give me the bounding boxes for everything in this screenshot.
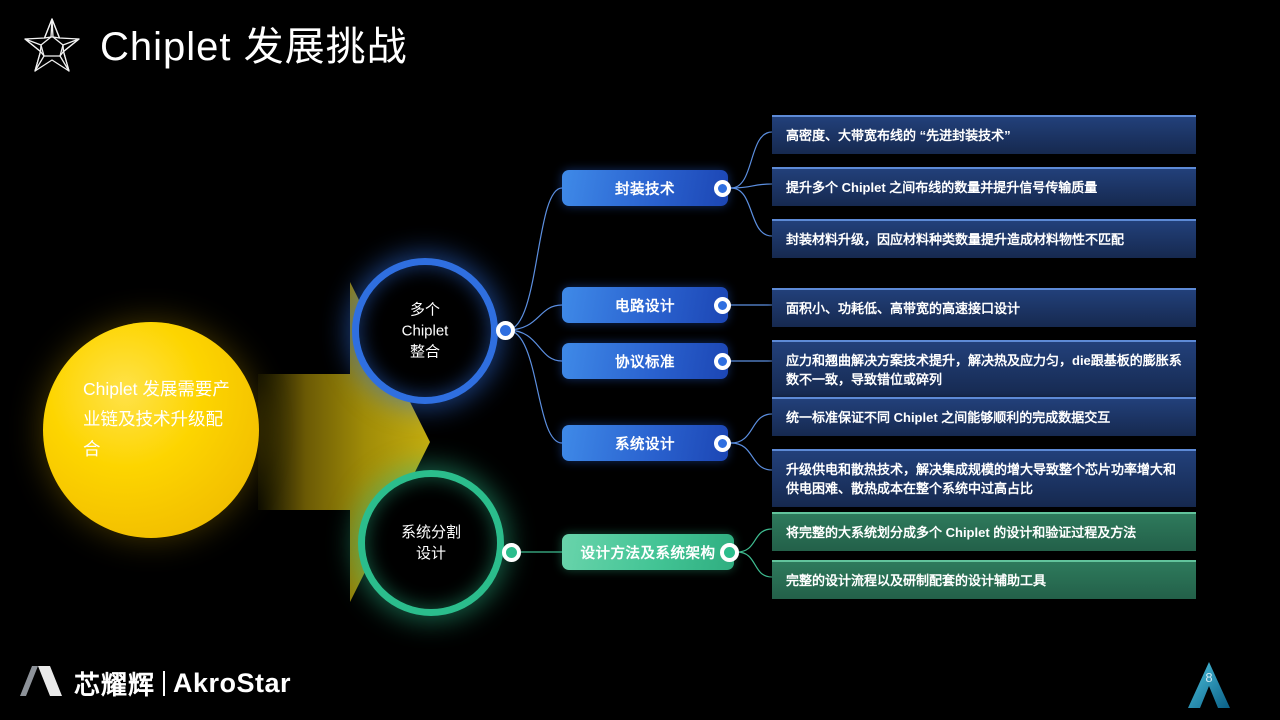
- detail-box-text: 升级供电和散热技术，解决集成规模的增大导致整个芯片功率增大和供电困难、散热成本在…: [786, 462, 1176, 496]
- brand-name-cn: 芯耀辉: [74, 665, 155, 702]
- category-pill-label: 系统设计: [615, 433, 675, 454]
- root-node-label: Chiplet 发展需要产业链及技术升级配合: [83, 374, 233, 464]
- star-outline-icon: [18, 14, 86, 80]
- slide-header: Chiplet 发展挑战: [0, 0, 1280, 95]
- brand-logo: 芯耀辉 AkroStar: [20, 664, 291, 702]
- category-pill-label: 电路设计: [615, 295, 675, 316]
- detail-box-text: 完整的设计流程以及研制配套的设计辅助工具: [786, 573, 1046, 588]
- detail-box[interactable]: 统一标准保证不同 Chiplet 之间能够顺利的完成数据交互: [772, 397, 1196, 436]
- branch-node-label: 系统分割设计: [365, 522, 497, 564]
- detail-box[interactable]: 面积小、功耗低、高带宽的高速接口设计: [772, 288, 1196, 327]
- page-badge-shape: [1186, 660, 1232, 710]
- category-pill-circuit-design[interactable]: 电路设计: [562, 287, 728, 323]
- detail-box-text: 面积小、功耗低、高带宽的高速接口设计: [786, 301, 1020, 316]
- category-pill-label: 协议标准: [615, 351, 675, 372]
- category-pill-label: 设计方法及系统架构: [581, 542, 716, 563]
- detail-box-text: 统一标准保证不同 Chiplet 之间能够顺利的完成数据交互: [786, 410, 1110, 425]
- category-pill-protocol-standard[interactable]: 协议标准: [562, 343, 728, 379]
- detail-box-text: 提升多个 Chiplet 之间布线的数量并提升信号传输质量: [786, 180, 1097, 195]
- branch-connector-dot-blue: [496, 321, 515, 340]
- detail-box[interactable]: 高密度、大带宽布线的 “先进封装技术”: [772, 115, 1196, 154]
- category-pill-packaging[interactable]: 封装技术: [562, 170, 728, 206]
- branch-node-multi-chiplet[interactable]: 多个Chiplet整合: [352, 258, 498, 404]
- page-number: 8: [1186, 670, 1232, 685]
- detail-box-text: 应力和翘曲解决方案技术提升，解决热及应力匀，die跟基板的膨胀系数不一致，导致错…: [786, 353, 1182, 387]
- root-node-circle[interactable]: Chiplet 发展需要产业链及技术升级配合: [43, 322, 259, 538]
- detail-box-text: 封装材料升级，因应材料种类数量提升造成材料物性不匹配: [786, 232, 1124, 247]
- detail-box[interactable]: 应力和翘曲解决方案技术提升，解决热及应力匀，die跟基板的膨胀系数不一致，导致错…: [772, 340, 1196, 398]
- category-dot-system-design: [714, 435, 731, 452]
- slide: Chiplet 发展挑战: [0, 0, 1280, 720]
- page-title: Chiplet 发展挑战: [100, 16, 408, 78]
- category-dot-circuit-design: [714, 297, 731, 314]
- category-pill-label: 封装技术: [615, 178, 675, 199]
- branch-node-label: 多个Chiplet整合: [359, 300, 491, 363]
- detail-box[interactable]: 将完整的大系统划分成多个 Chiplet 的设计和验证过程及方法: [772, 512, 1196, 551]
- detail-box[interactable]: 升级供电和散热技术，解决集成规模的增大导致整个芯片功率增大和供电困难、散热成本在…: [772, 449, 1196, 507]
- category-dot-design-method: [720, 543, 739, 562]
- brand-divider: [163, 671, 165, 696]
- branch-node-system-partition[interactable]: 系统分割设计: [358, 470, 504, 616]
- akrostar-a-mark-icon: [20, 664, 62, 703]
- detail-box-text: 将完整的大系统划分成多个 Chiplet 的设计和验证过程及方法: [786, 525, 1136, 540]
- detail-box-text: 高密度、大带宽布线的 “先进封装技术”: [786, 128, 1011, 143]
- detail-box[interactable]: 完整的设计流程以及研制配套的设计辅助工具: [772, 560, 1196, 599]
- category-pill-design-method[interactable]: 设计方法及系统架构: [562, 534, 734, 570]
- category-dot-protocol-standard: [714, 353, 731, 370]
- branch-connector-dot-green: [502, 543, 521, 562]
- detail-box[interactable]: 封装材料升级，因应材料种类数量提升造成材料物性不匹配: [772, 219, 1196, 258]
- brand-name-en: AkroStar: [173, 668, 291, 699]
- category-dot-packaging: [714, 180, 731, 197]
- category-pill-system-design[interactable]: 系统设计: [562, 425, 728, 461]
- detail-box[interactable]: 提升多个 Chiplet 之间布线的数量并提升信号传输质量: [772, 167, 1196, 206]
